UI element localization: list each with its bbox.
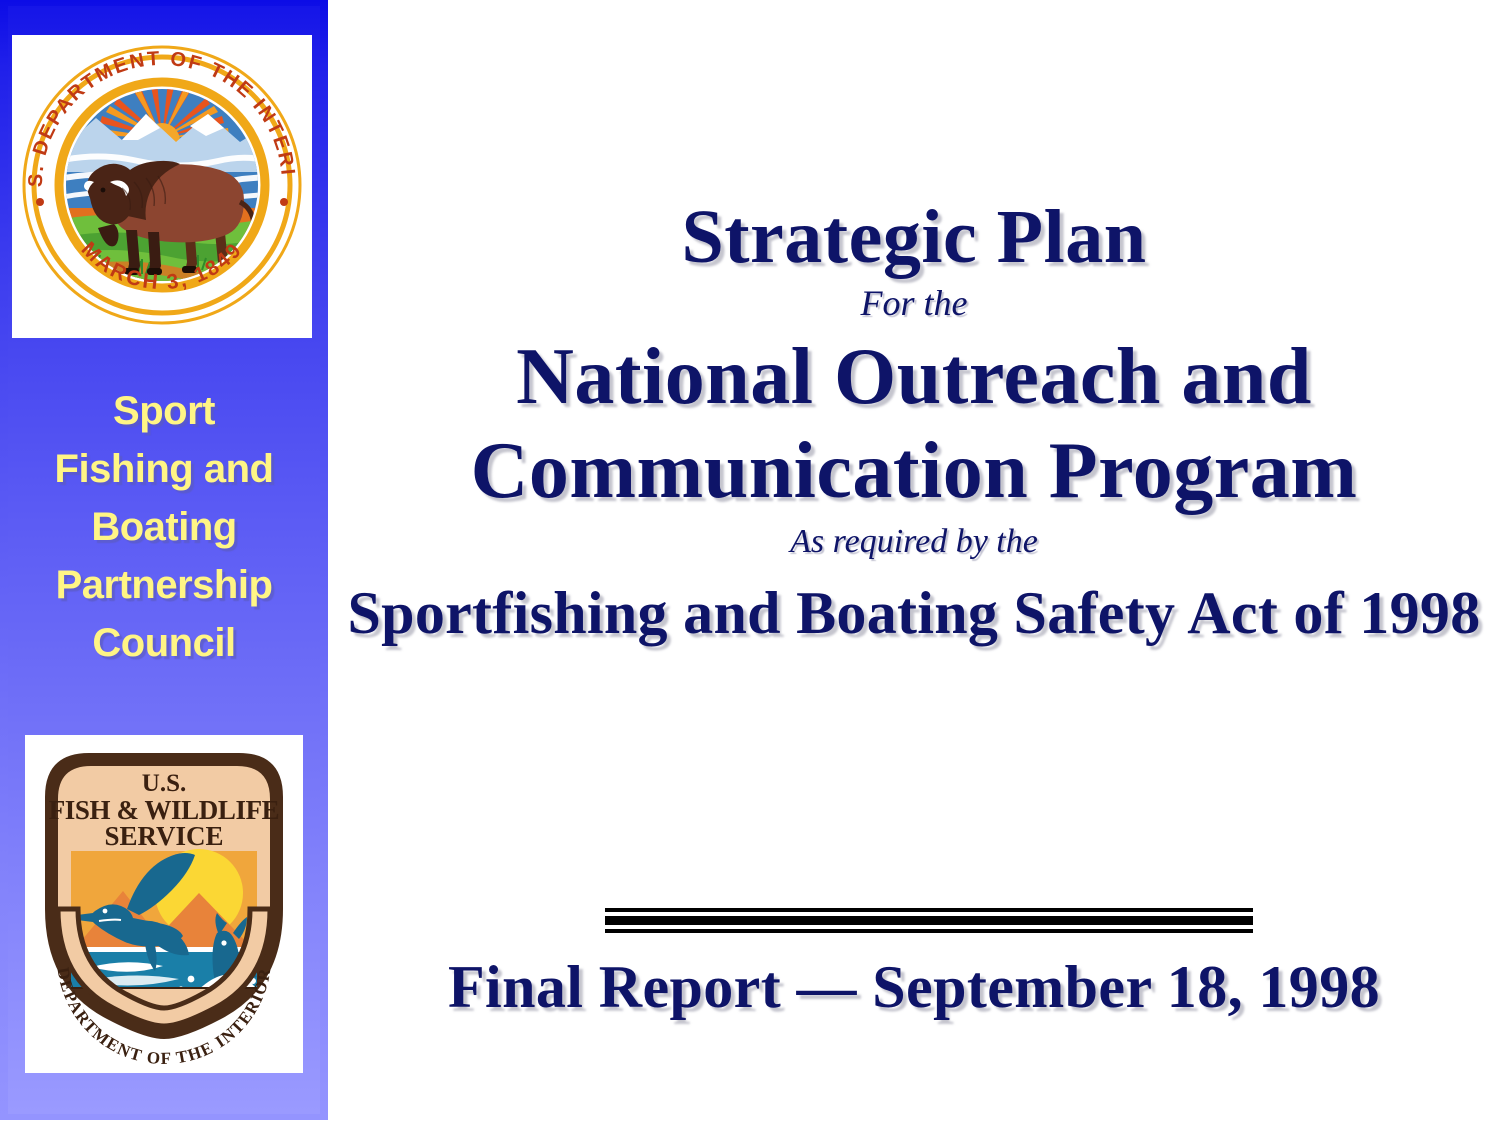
divider-line-bottom bbox=[605, 929, 1253, 933]
fws-shield-icon: U.S. FISH & WILDLIFE SERVICE bbox=[31, 741, 297, 1067]
fws-line1: U.S. bbox=[142, 770, 186, 797]
divider-line-middle bbox=[605, 916, 1253, 925]
seal-dot-left bbox=[36, 198, 44, 206]
title-block: Strategic Plan For the National Outreach… bbox=[328, 196, 1500, 652]
doi-seal-plate: U.S. DEPARTMENT OF THE INTERIOR MARCH 3,… bbox=[12, 35, 312, 338]
act-name: Sportfishing and Boating Safety Act of 1… bbox=[328, 574, 1500, 652]
program-name: National Outreach and Communication Prog… bbox=[328, 330, 1500, 518]
fws-logo-plate: U.S. FISH & WILDLIFE SERVICE bbox=[25, 735, 303, 1073]
title-for-the: For the bbox=[328, 280, 1500, 326]
fws-line3: SERVICE bbox=[104, 821, 223, 851]
report-footer: Final Report — September 18, 1998 bbox=[328, 950, 1500, 1024]
divider-rule bbox=[605, 908, 1253, 932]
council-title: Sport Fishing and Boating Partnership Co… bbox=[8, 382, 320, 672]
sidebar: U.S. DEPARTMENT OF THE INTERIOR MARCH 3,… bbox=[0, 0, 328, 1120]
title-as-required-by-the: As required by the bbox=[328, 520, 1500, 564]
divider-line-top bbox=[605, 908, 1253, 912]
page-title: Strategic Plan bbox=[328, 196, 1500, 278]
doi-seal-icon: U.S. DEPARTMENT OF THE INTERIOR MARCH 3,… bbox=[18, 42, 306, 332]
main-content: Strategic Plan For the National Outreach… bbox=[328, 0, 1500, 1125]
seal-dot-right bbox=[280, 198, 288, 206]
